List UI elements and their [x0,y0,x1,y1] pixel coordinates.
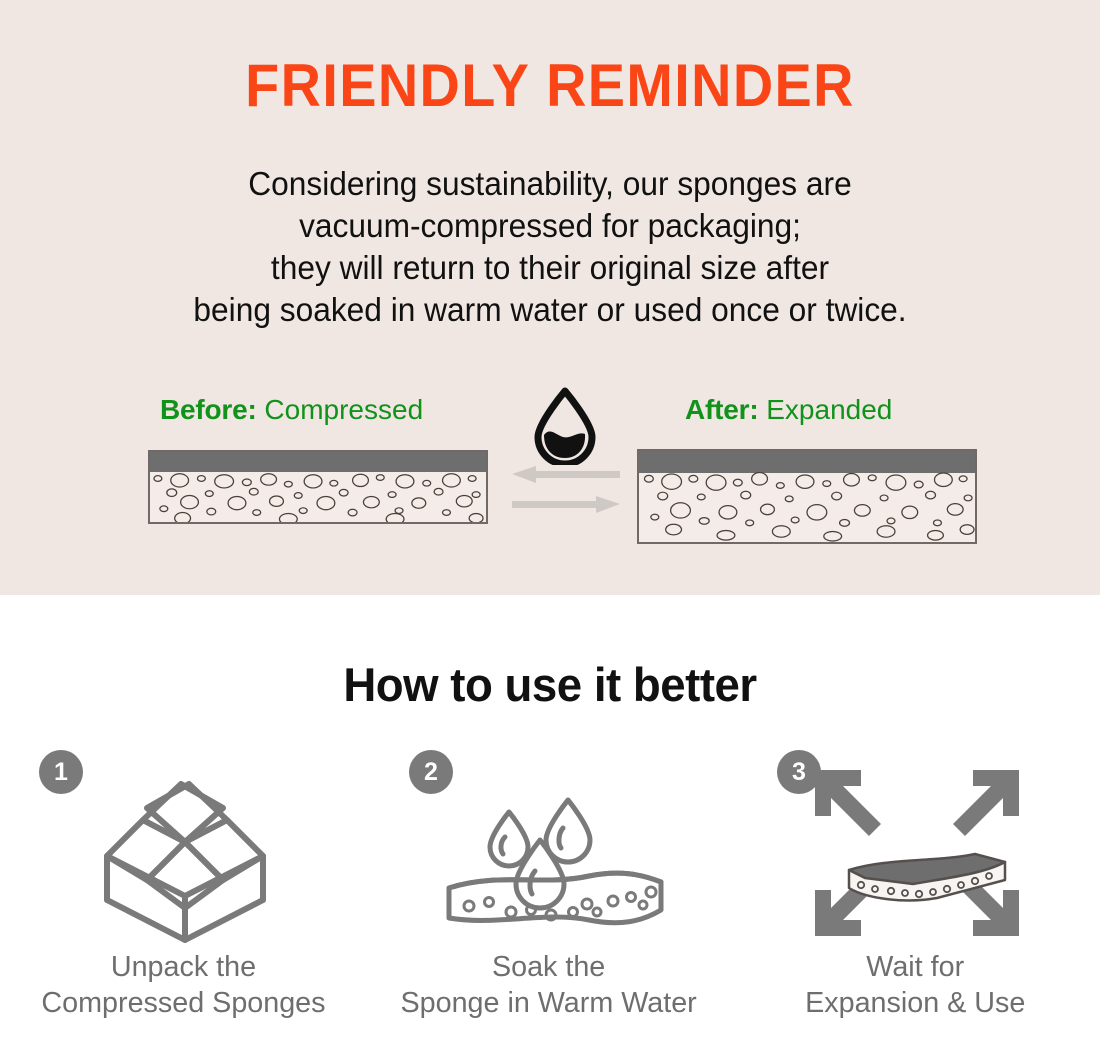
step-caption: Wait for Expansion & Use [805,949,1025,1021]
sponge-pores [150,452,486,522]
expanding-arrows-sponge-icon [807,758,1027,948]
step-artwork: 3 [765,750,1065,945]
step-number-badge: 1 [39,750,83,794]
step-artwork: 2 [399,750,699,945]
step-caption-line1: Soak the [401,949,697,985]
water-drop-icon [530,387,600,465]
before-label-light: Compressed [264,394,423,425]
reminder-line-2: vacuum-compressed for packaging; [22,205,1078,247]
step-caption: Unpack the Compressed Sponges [41,949,325,1021]
sponge-compressed-illustration [148,450,488,524]
step-item: 2 [366,750,732,1040]
step-caption-line2: Expansion & Use [805,985,1025,1021]
steps-list: 1 [0,750,1100,1040]
step-number-badge: 2 [409,750,453,794]
before-label: Before: Compressed [160,394,423,426]
step-caption-line2: Sponge in Warm Water [401,985,697,1021]
open-box-icon [85,768,285,943]
step-item: 1 [0,750,366,1040]
step-number-badge: 3 [777,750,821,794]
how-to-use-panel: How to use it better 1 [0,595,1100,1039]
friendly-reminder-panel: FRIENDLY REMINDER Considering sustainabi… [0,0,1100,595]
section-title: How to use it better [17,657,1084,712]
step-caption-line2: Compressed Sponges [41,985,325,1021]
step-artwork: 1 [33,750,333,945]
sponge-expanded-illustration [637,449,977,544]
reminder-line-4: being soaked in warm water or used once … [22,289,1078,331]
step-caption-line1: Unpack the [41,949,325,985]
reminder-line-3: they will return to their original size … [22,247,1078,289]
water-drops-on-sponge-icon [437,760,677,945]
after-label: After: Expanded [685,394,892,426]
page-title: FRIENDLY REMINDER [39,54,1062,117]
two-way-arrows-icon [510,465,622,513]
before-label-strong: Before: [160,394,257,425]
step-caption: Soak the Sponge in Warm Water [401,949,697,1021]
step-caption-line1: Wait for [805,949,1025,985]
reminder-line-1: Considering sustainability, our sponges … [22,163,1078,205]
after-label-light: Expanded [766,394,892,425]
after-label-strong: After: [685,394,758,425]
compression-transition-group [505,387,625,522]
step-item: 3 [732,750,1098,1040]
reminder-body-text: Considering sustainability, our sponges … [22,163,1078,331]
sponge-pores [639,451,975,542]
